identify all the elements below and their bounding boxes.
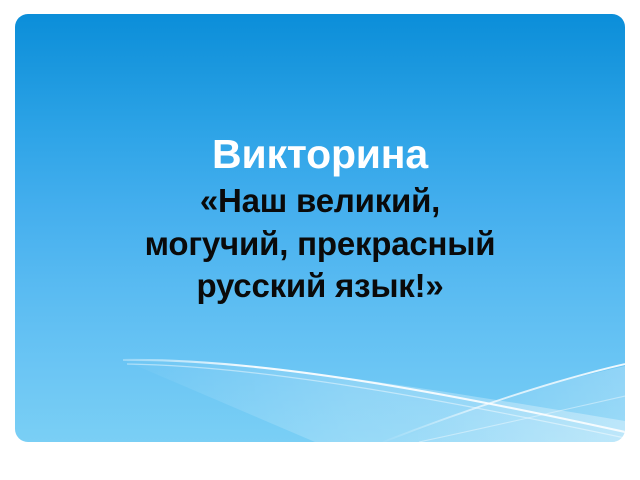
swoosh-wedge-lower: [395, 366, 625, 442]
swoosh-curve-secondary-echo: [419, 396, 625, 442]
subtitle-line: «Наш великий,: [15, 180, 625, 222]
swoosh-curve-primary: [123, 360, 625, 432]
swoosh-wedge-upper: [123, 360, 625, 442]
slide-stage: Викторина «Наш великий, могучий, прекрас…: [0, 0, 640, 480]
slide-panel: Викторина «Наш великий, могучий, прекрас…: [15, 14, 625, 442]
swoosh-curve-primary-echo: [127, 364, 625, 438]
title-block: Викторина «Наш великий, могучий, прекрас…: [15, 14, 625, 307]
swoosh-curve-secondary: [383, 364, 625, 442]
subtitle-line: русский язык!»: [15, 265, 625, 307]
page-title: Викторина: [15, 133, 625, 176]
subtitle-line: могучий, прекрасный: [15, 223, 625, 265]
subtitle-text: «Наш великий, могучий, прекрасный русски…: [15, 180, 625, 307]
